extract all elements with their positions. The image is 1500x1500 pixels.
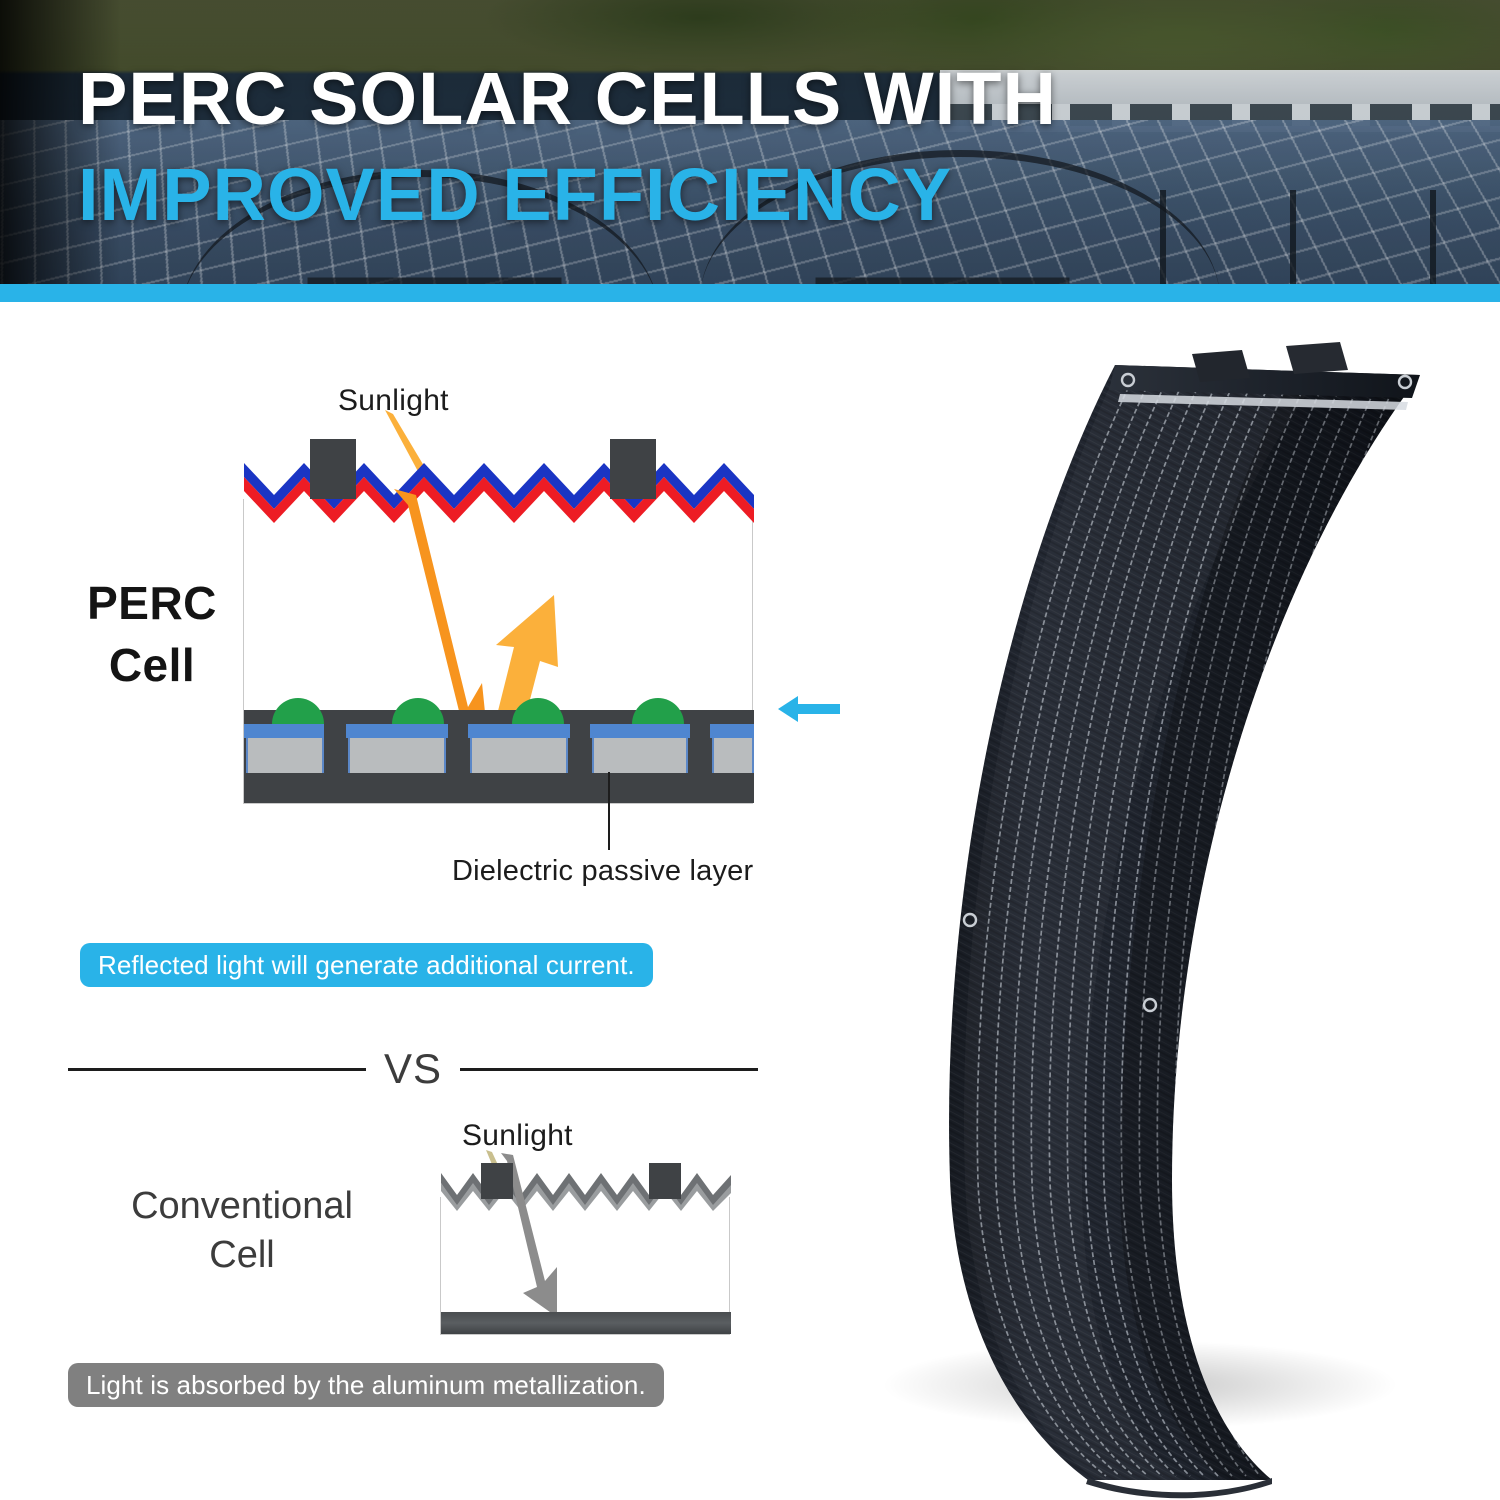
junction-box <box>1192 350 1250 382</box>
product-photo <box>820 320 1500 1500</box>
page-title-line-2: IMPROVED EFFICIENCY <box>78 158 1418 232</box>
perc-benefit-banner: Reflected light will generate additional… <box>80 943 653 987</box>
silicon-layer <box>592 736 688 773</box>
junction-box <box>1286 342 1348 374</box>
conventional-cell-label-line-2: Cell <box>92 1231 392 1280</box>
perc-rear-stack <box>244 710 754 803</box>
hero-header: PERC SOLAR CELLS WITH IMPROVED EFFICIENC… <box>0 0 1500 300</box>
perc-benefit-text: Reflected light will generate additional… <box>98 950 635 981</box>
conventional-drawback-banner: Light is absorbed by the aluminum metall… <box>68 1363 664 1407</box>
vs-divider: VS <box>68 1039 758 1099</box>
perc-cell-label-line-2: Cell <box>62 634 242 696</box>
perc-cell-label-line-1: PERC <box>62 572 242 634</box>
conventional-cell-label-line-1: Conventional <box>92 1182 392 1231</box>
conventional-drawback-text: Light is absorbed by the aluminum metall… <box>86 1370 646 1401</box>
silicon-layer <box>470 736 568 773</box>
vs-rule-left <box>68 1068 366 1071</box>
dielectric-passive-layer-label: Dielectric passive layer <box>452 855 753 888</box>
top-electrode-finger <box>610 439 656 499</box>
diagram-column: Sunlight PERC Cell <box>0 302 830 1500</box>
page-title-line-1: PERC SOLAR CELLS WITH <box>78 62 1418 136</box>
dielectric-passive-layer <box>590 724 690 738</box>
conventional-cell-diagram <box>440 1197 730 1335</box>
top-electrode-finger <box>310 439 356 499</box>
conventional-aluminum-layer <box>441 1312 731 1334</box>
hero-heading: PERC SOLAR CELLS WITH IMPROVED EFFICIENC… <box>78 62 1418 232</box>
accent-strip <box>0 284 1500 302</box>
dielectric-passive-layer <box>244 724 324 738</box>
silicon-layer <box>246 736 324 773</box>
dielectric-passive-layer <box>710 724 754 738</box>
conventional-electrode-finger <box>649 1163 681 1199</box>
dielectric-leader-line <box>608 772 610 850</box>
perc-cell-label: PERC Cell <box>62 572 242 696</box>
panel-surface-detail <box>820 320 1500 1500</box>
perc-cell-diagram <box>243 499 753 804</box>
silicon-layer <box>348 736 446 773</box>
conventional-cell-label: Conventional Cell <box>92 1182 392 1281</box>
vs-label: VS <box>384 1045 442 1093</box>
dielectric-passive-layer <box>468 724 570 738</box>
panel-bottom-edge <box>1086 1478 1272 1498</box>
conventional-sunlight-label: Sunlight <box>462 1119 573 1153</box>
silicon-layer <box>712 736 754 773</box>
vs-rule-right <box>460 1068 758 1071</box>
conventional-electrode-finger <box>481 1163 513 1199</box>
flexible-solar-panel <box>820 320 1500 1500</box>
dielectric-passive-layer <box>346 724 448 738</box>
